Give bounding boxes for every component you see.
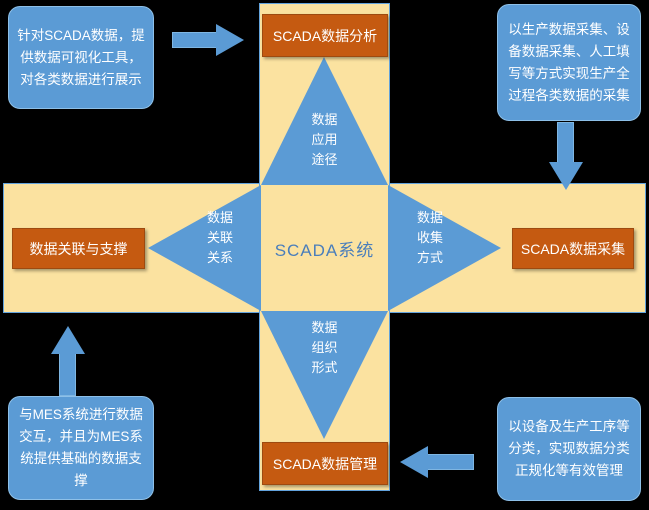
arrow-head (216, 24, 244, 56)
arrow-shaft (426, 454, 474, 470)
wedge-bottom-label: 数据 组织 形式 (261, 318, 388, 378)
arrow-right-icon (172, 24, 244, 56)
node-data-association-support[interactable]: 数据关联与支撑 (12, 228, 145, 269)
callout-bottom-left: 与MES系统进行数据交互，并且为MES系统提供基础的数据支撑 (8, 396, 154, 500)
arrow-shaft (557, 122, 574, 164)
node-scada-data-analysis[interactable]: SCADA数据分析 (262, 14, 388, 57)
arrow-left-icon (400, 446, 474, 478)
node-scada-data-collection[interactable]: SCADA数据采集 (512, 228, 634, 269)
arrow-up-icon (51, 326, 85, 396)
callout-bottom-right: 以设备及生产工序等分类，实现数据分类正规化等有效管理 (497, 397, 641, 501)
diagram-canvas: 数据 应用 途径 数据 组织 形式 数据 关联 关系 数据 收集 方式 SCAD… (0, 0, 649, 510)
arrow-down-icon (549, 122, 583, 190)
node-scada-data-management[interactable]: SCADA数据管理 (262, 442, 388, 485)
arrow-shaft (59, 352, 76, 396)
wedge-top-label: 数据 应用 途径 (261, 110, 388, 170)
wedge-right-label: 数据 收集 方式 (396, 208, 464, 268)
wedge-left-label: 数据 关联 关系 (186, 208, 254, 268)
arrow-head (400, 446, 428, 478)
center-node-label: SCADA系统 (275, 236, 375, 261)
callout-top-left: 针对SCADA数据，提供数据可视化工具，对各类数据进行展示 (8, 6, 154, 109)
arrow-head (549, 162, 583, 190)
center-node: SCADA系统 (261, 185, 388, 311)
arrow-shaft (172, 32, 218, 48)
arrow-head (51, 326, 85, 354)
callout-top-right: 以生产数据采集、设备数据采集、人工填写等方式实现生产全过程各类数据的采集 (497, 4, 641, 121)
